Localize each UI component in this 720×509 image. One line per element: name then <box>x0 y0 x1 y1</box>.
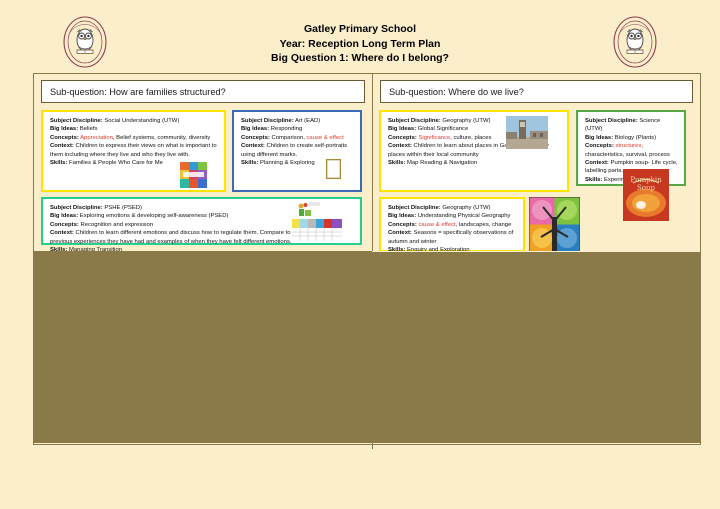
school-crest-owl-icon <box>57 14 113 70</box>
label-context: Context: <box>241 143 265 149</box>
label-subject-discipline: Subject Discipline: <box>388 205 441 211</box>
discipline-card-pshe[interactable]: Subject Discipline: PSHE (PSED) Big Idea… <box>41 197 362 245</box>
label-context: Context: <box>50 143 74 149</box>
label-subject-discipline: Subject Discipline: <box>241 118 294 124</box>
value-big-ideas: Beliefs <box>80 126 98 132</box>
label-context: Context: <box>388 230 412 236</box>
emotions-colour-table-thumbnail <box>292 219 342 241</box>
school-crest-owl-icon <box>607 14 663 70</box>
school-name: Gatley Primary School <box>180 22 540 37</box>
discipline-card-geography-global[interactable]: Subject Discipline: Geography (UTW) Big … <box>379 110 569 192</box>
label-concepts: Concepts: <box>585 143 614 149</box>
value-concepts-highlight: Significance <box>418 135 450 141</box>
value-context: Children to express their views on what … <box>50 143 217 157</box>
row-divider <box>34 252 700 443</box>
value-concepts-highlight: structures <box>615 143 641 149</box>
page-header: Gatley Primary School Year: Reception Lo… <box>0 0 720 72</box>
label-skills: Skills: <box>50 247 67 251</box>
value-big-ideas: Exploring emotions & developing self-awa… <box>80 213 229 219</box>
label-concepts: Concepts: <box>50 222 79 228</box>
label-concepts: Concepts: <box>241 135 270 141</box>
label-skills: Skills: <box>388 160 405 166</box>
emotions-chart-thumbnail <box>296 201 322 218</box>
page-title: Gatley Primary School Year: Reception Lo… <box>180 22 540 66</box>
value-skills: Managing Transition <box>69 247 122 251</box>
curriculum-grid-frame: Sub-question: How are families structure… <box>33 73 701 445</box>
label-big-ideas: Big Ideas: <box>50 213 78 219</box>
families-collage-thumbnail <box>180 162 207 188</box>
label-context: Context: <box>585 160 609 166</box>
label-skills: Skills: <box>585 177 602 183</box>
label-skills: Skills: <box>388 247 405 251</box>
value-concepts-highlight: cause & effect <box>306 135 343 141</box>
value-subject-discipline: Geography (UTW) <box>442 205 490 211</box>
label-subject-discipline: Subject Discipline: <box>585 118 638 124</box>
label-context: Context: <box>50 230 74 236</box>
value-big-ideas: Biology (Plants) <box>615 135 656 141</box>
label-big-ideas: Big Ideas: <box>388 126 416 132</box>
value-context: Children to learn different emotions and… <box>50 230 292 244</box>
label-subject-discipline: Subject Discipline: <box>50 205 103 211</box>
label-big-ideas: Big Ideas: <box>241 126 269 132</box>
value-big-ideas: Understanding Physical Geography <box>418 213 511 219</box>
value-concepts-highlight: cause & effect <box>418 222 455 228</box>
value-concepts: Recognition and expression <box>80 222 153 228</box>
value-subject-discipline: Geography (UTW) <box>442 118 490 124</box>
svg-text:Soup: Soup <box>637 184 656 192</box>
quadrant-where-do-we-live: Sub-question: Where do we live? Subject … <box>373 74 700 251</box>
label-skills: Skills: <box>50 160 67 166</box>
value-skills: Planning & Exploring <box>260 160 315 166</box>
label-subject-discipline: Subject Discipline: <box>50 118 103 124</box>
sub-question-heading: Sub-question: How are families structure… <box>41 80 365 103</box>
label-big-ideas: Big Ideas: <box>50 126 78 132</box>
label-subject-discipline: Subject Discipline: <box>388 118 441 124</box>
label-skills: Skills: <box>241 160 258 166</box>
value-concepts: , landscapes, change <box>456 222 512 228</box>
discipline-card-geography-physical[interactable]: Subject Discipline: Geography (UTW) Big … <box>379 197 525 251</box>
gatley-village-photo <box>506 116 548 149</box>
value-concepts-highlight: Appreciation <box>80 135 113 141</box>
value-subject-discipline: Social Understanding (UTW) <box>104 118 179 124</box>
value-concepts: , culture, places <box>450 135 491 141</box>
label-context: Context: <box>388 143 412 149</box>
sub-question-heading: Sub-question: Where do we live? <box>380 80 693 103</box>
value-subject-discipline: PSHE (PSED) <box>104 205 142 211</box>
picture-frame-thumbnail <box>326 159 341 179</box>
quadrant-how-are-families-structured: Sub-question: How are families structure… <box>34 74 372 251</box>
discipline-card-social-understanding[interactable]: Subject Discipline: Social Understanding… <box>41 110 226 192</box>
big-question-line: Big Question 1: Where do I belong? <box>180 51 540 66</box>
value-concepts-pre: Comparison, <box>271 135 306 141</box>
discipline-card-art[interactable]: Subject Discipline: Art (EAD) Big Ideas:… <box>232 110 362 192</box>
label-concepts: Concepts: <box>388 135 417 141</box>
quadrant-what-came-before-me: Sub-question: What came before me? Subje… <box>34 443 372 449</box>
label-concepts: Concepts: <box>388 222 417 228</box>
value-concepts: , Belief systems, community, diversity <box>113 135 210 141</box>
value-subject-discipline: Art (EAD) <box>295 118 320 124</box>
value-skills: Enquiry and Exploration <box>407 247 470 251</box>
value-big-ideas: Global Significance <box>418 126 468 132</box>
label-concepts: Concepts: <box>50 135 79 141</box>
pumpkin-soup-book-cover: Pumpkin Soup <box>623 169 669 221</box>
value-big-ideas: Responding <box>271 126 302 132</box>
quadrant-how-do-we-celebrate: Sub-question: How do we celebrate? Subje… <box>373 443 700 449</box>
label-big-ideas: Big Ideas: <box>585 135 613 141</box>
label-big-ideas: Big Ideas: <box>388 213 416 219</box>
year-plan-line: Year: Reception Long Term Plan <box>180 37 540 52</box>
value-skills: Families & People Who Care for Me <box>69 160 163 166</box>
four-seasons-tree-artwork <box>529 197 580 251</box>
value-skills: Map Reading & Navigation <box>407 160 477 166</box>
svg-text:Pumpkin: Pumpkin <box>630 176 662 184</box>
